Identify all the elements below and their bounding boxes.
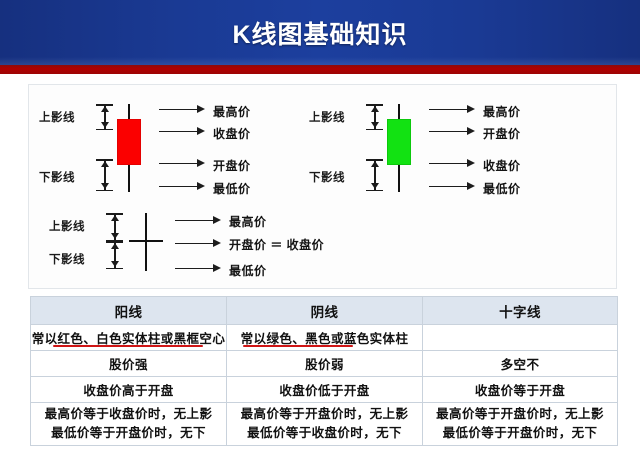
doji-candle-crossbar xyxy=(129,240,163,242)
arrow-to-high-1 xyxy=(159,104,205,114)
arrow-to-low-3 xyxy=(175,263,221,273)
cell-bullish-close-vs-open: 收盘价高于开盘 xyxy=(31,377,227,403)
bullish-lower-shadow-label: 下影线 xyxy=(39,169,75,185)
bearish-lower-shadow-bracket xyxy=(366,159,383,191)
doji-candle-wick xyxy=(145,213,147,271)
arrow-to-low-1 xyxy=(159,181,205,191)
bearish-candle-body xyxy=(387,119,411,165)
bearish-upper-shadow-bracket xyxy=(366,104,383,130)
bullish-price-close: 收盘价 xyxy=(213,125,251,142)
table-row: 常以红色、白色实体柱或黑框空心 常以绿色、黑色或蓝色实体柱 xyxy=(31,325,618,351)
cell-bearish-appearance: 常以绿色、黑色或蓝色实体柱 xyxy=(227,325,423,351)
diagram-panel: 上影线 下影线 xyxy=(28,84,617,289)
arrow-to-open-1 xyxy=(159,158,205,168)
cell-bearish-close-vs-open: 收盘价低于开盘 xyxy=(227,377,423,403)
table-header-bearish: 阴线 xyxy=(227,297,423,325)
doji-candle-diagram: 上影线 下影线 最高价 xyxy=(49,207,379,283)
bullish-price-high: 最高价 xyxy=(213,103,251,120)
cell-line: 最高价等于开盘价时，无上影 xyxy=(423,405,617,424)
slide-content: 上影线 下影线 xyxy=(0,74,640,457)
red-underline xyxy=(53,345,203,347)
table-header-bullish: 阳线 xyxy=(31,297,227,325)
cell-line: 最低价等于开盘价时，无下 xyxy=(31,424,226,443)
header-sheen xyxy=(0,57,640,65)
cell-bearish-shadow-rules: 最高价等于开盘价时，无上影 最低价等于收盘价时，无下 xyxy=(227,403,423,446)
doji-price-high: 最高价 xyxy=(229,213,267,230)
cell-bullish-shadow-rules: 最高价等于收盘价时，无上影 最低价等于开盘价时，无下 xyxy=(31,403,227,446)
bullish-candle-body xyxy=(117,119,141,165)
bearish-price-close: 收盘价 xyxy=(483,157,521,174)
cell-doji-strength: 多空不 xyxy=(423,351,618,377)
doji-upper-shadow-label: 上影线 xyxy=(49,218,85,234)
slide-header: K线图基础知识 xyxy=(0,0,640,65)
bullish-upper-shadow-bracket xyxy=(96,104,113,130)
arrow-to-close-1 xyxy=(159,126,205,136)
arrow-to-open-2 xyxy=(429,126,475,136)
bullish-price-low: 最低价 xyxy=(213,180,251,197)
arrow-to-open-close-3 xyxy=(175,238,221,248)
bearish-candle-diagram: 上影线 下影线 xyxy=(309,93,574,198)
doji-lower-shadow-label: 下影线 xyxy=(49,251,85,267)
bearish-price-high: 最高价 xyxy=(483,103,521,120)
doji-price-low: 最低价 xyxy=(229,262,267,279)
doji-lower-shadow-bracket xyxy=(106,241,123,269)
cell-doji-appearance xyxy=(423,325,618,351)
cell-text: 常以绿色、黑色或蓝色实体柱 xyxy=(241,332,409,346)
cell-line: 最低价等于开盘价时，无下 xyxy=(423,424,617,443)
cell-bullish-appearance: 常以红色、白色实体柱或黑框空心 xyxy=(31,325,227,351)
bullish-candle-diagram: 上影线 下影线 xyxy=(39,93,304,198)
slide: K线图基础知识 上影线 下影线 xyxy=(0,0,640,457)
cell-bearish-strength: 股价弱 xyxy=(227,351,423,377)
arrow-to-high-3 xyxy=(175,215,221,225)
arrow-to-close-2 xyxy=(429,158,475,168)
bullish-upper-shadow-label: 上影线 xyxy=(39,109,75,125)
bearish-lower-shadow-label: 下影线 xyxy=(309,169,345,185)
cell-line: 最高价等于收盘价时，无上影 xyxy=(31,405,226,424)
doji-upper-shadow-bracket xyxy=(106,213,123,241)
bearish-upper-shadow-label: 上影线 xyxy=(309,109,345,125)
header-accent-rule xyxy=(0,65,640,74)
table-header-row: 阳线 阴线 十字线 xyxy=(31,297,618,325)
arrow-to-low-2 xyxy=(429,181,475,191)
page-title: K线图基础知识 xyxy=(232,15,407,51)
doji-price-open-close: 开盘价 ＝ 收盘价 xyxy=(229,236,324,253)
cell-doji-close-vs-open: 收盘价等于开盘 xyxy=(423,377,618,403)
cell-line: 最低价等于收盘价时，无下 xyxy=(227,424,422,443)
table-header-doji: 十字线 xyxy=(423,297,618,325)
red-underline xyxy=(243,345,353,347)
table-row: 股价强 股价弱 多空不 xyxy=(31,351,618,377)
bullish-lower-shadow-bracket xyxy=(96,159,113,191)
candle-comparison-table: 阳线 阴线 十字线 常以红色、白色实体柱或黑框空心 常以绿色、黑色或蓝色实体柱 xyxy=(30,296,618,446)
bearish-price-low: 最低价 xyxy=(483,180,521,197)
cell-bullish-strength: 股价强 xyxy=(31,351,227,377)
bullish-price-open: 开盘价 xyxy=(213,157,251,174)
cell-line: 最高价等于开盘价时，无上影 xyxy=(227,405,422,424)
cell-text: 常以红色、白色实体柱或黑框空心 xyxy=(32,332,226,346)
table-row: 最高价等于收盘价时，无上影 最低价等于开盘价时，无下 最高价等于开盘价时，无上影… xyxy=(31,403,618,446)
cell-doji-shadow-rules: 最高价等于开盘价时，无上影 最低价等于开盘价时，无下 xyxy=(423,403,618,446)
arrow-to-high-2 xyxy=(429,104,475,114)
table-row: 收盘价高于开盘 收盘价低于开盘 收盘价等于开盘 xyxy=(31,377,618,403)
bearish-price-open: 开盘价 xyxy=(483,125,521,142)
